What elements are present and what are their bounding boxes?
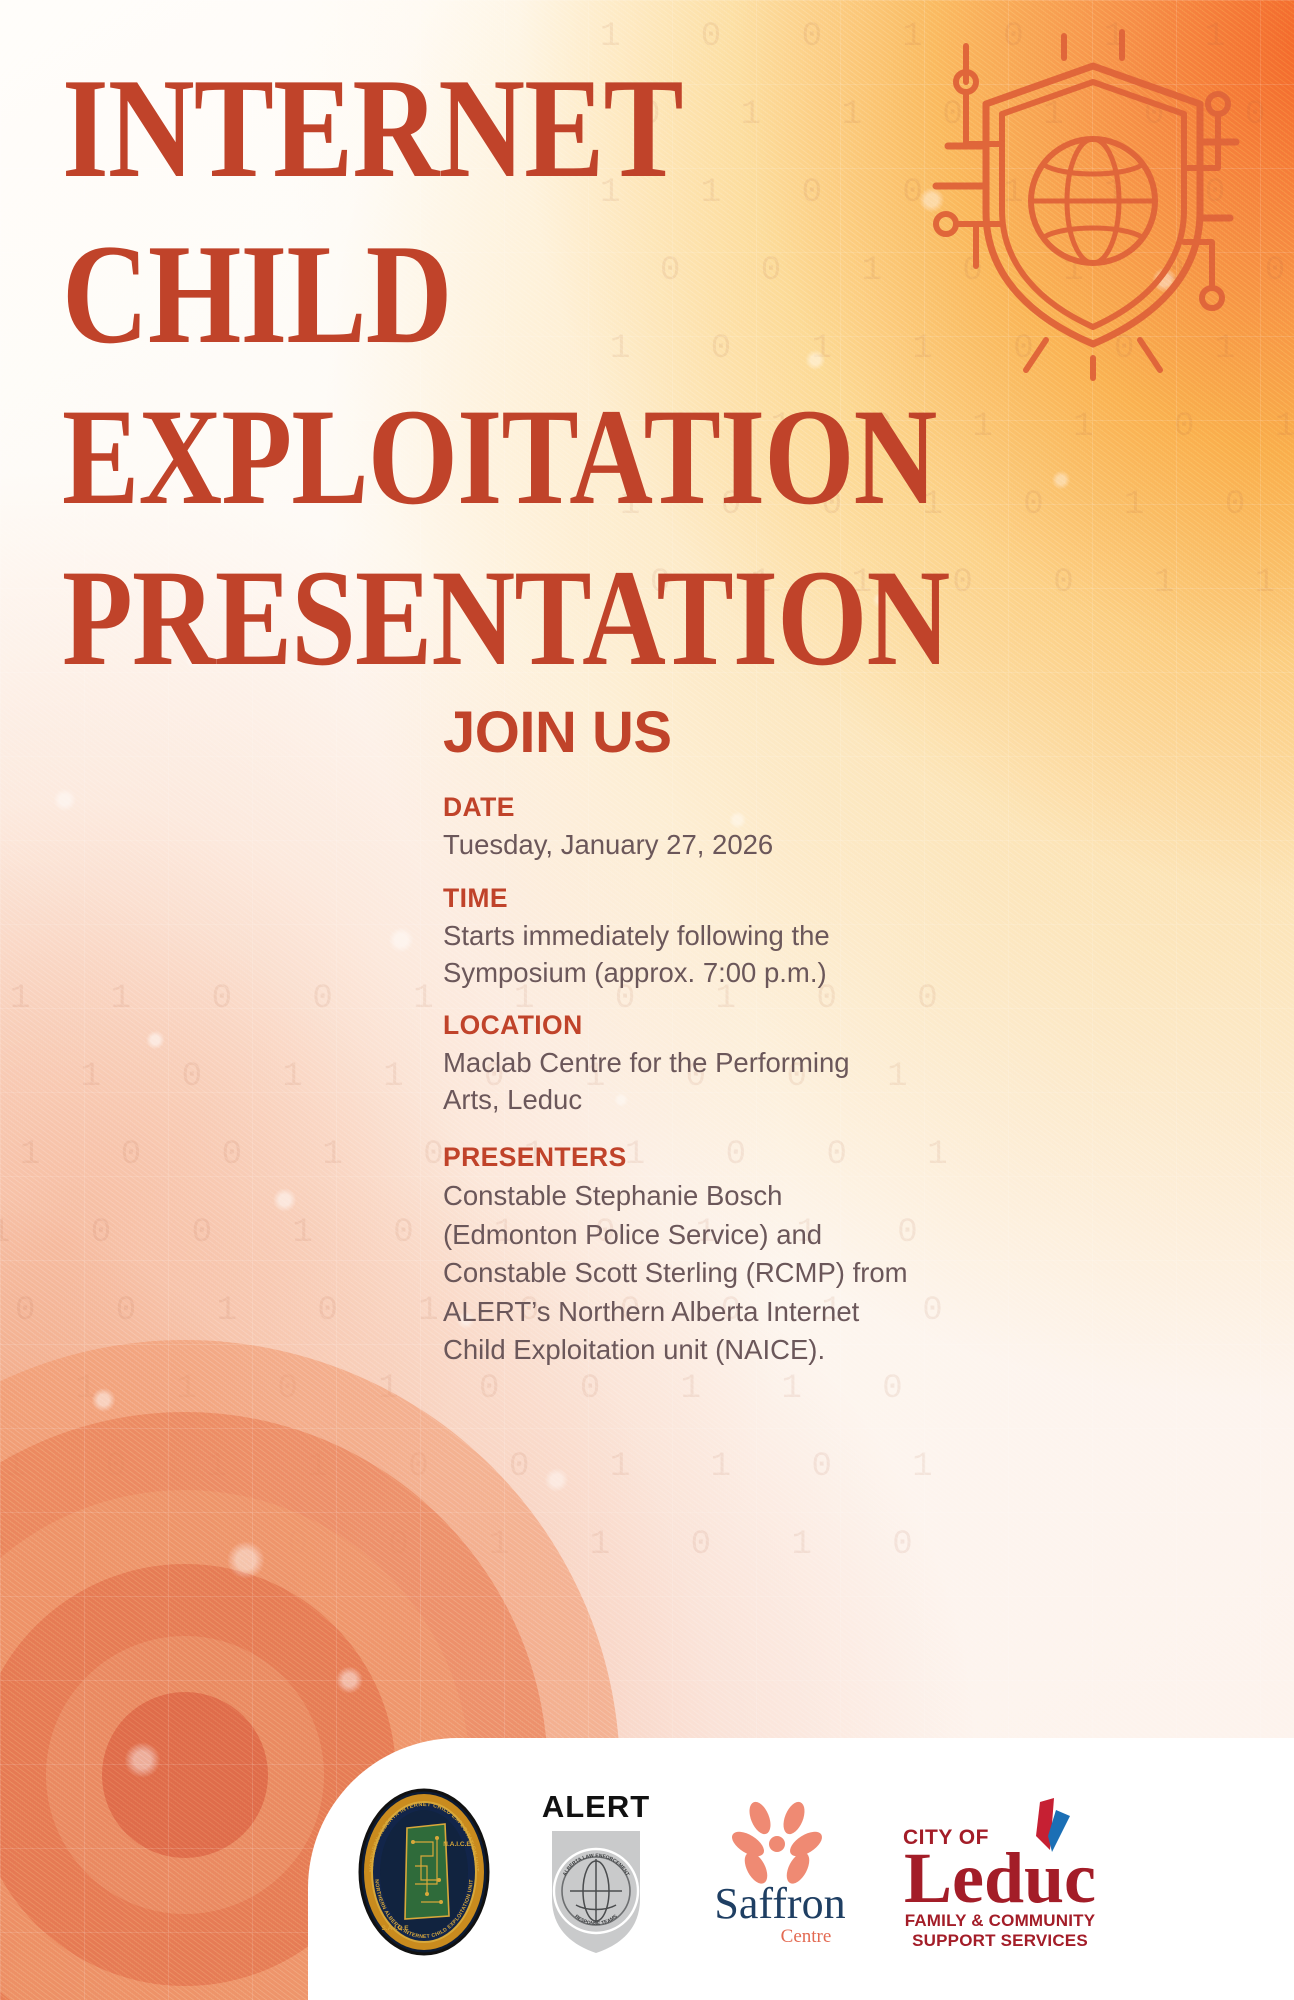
leduc-fcss-line2: SUPPORT SERVICES [912, 1931, 1088, 1950]
title-line-1: INTERNET [62, 58, 768, 200]
alert-wordmark: ALERT [542, 1789, 650, 1824]
naice-inner-top-text: N.A.I.C.E [443, 1841, 471, 1848]
detail-label-date: DATE [443, 792, 1003, 822]
saffron-flower-icon [728, 1799, 826, 1887]
shield-globe-circuit-icon [918, 26, 1248, 386]
partner-logos-footer: NORTHERN ALBERTA INTERNET CHILD EXPLOITA… [308, 1738, 1294, 2000]
detail-label-time: TIME [443, 883, 1003, 913]
join-us-heading: JOIN US [443, 704, 1003, 762]
page-title: INTERNET CHILD EXPLOITATION PRESENTATION [62, 58, 902, 710]
saffron-wordmark: Saffron [714, 1879, 845, 1928]
detail-value-time: Starts immediately following the Symposi… [443, 918, 1003, 991]
event-details: JOIN US DATE Tuesday, January 27, 2026 T… [443, 704, 1003, 1389]
alert-logo: ALERT ALBERTA LAW ENFORCEMENT [512, 1787, 680, 1957]
saffron-centre-logo: Saffron Centre [680, 1792, 880, 1952]
title-line-3: EXPLOITATION [62, 389, 768, 526]
city-of-leduc-fcss-logo: CITY OF Leduc FAMILY & COMMUNITY SUPPORT… [880, 1792, 1120, 1952]
detail-field-date: DATE Tuesday, January 27, 2026 [443, 792, 1003, 864]
saffron-subtitle: Centre [781, 1926, 832, 1947]
title-line-2: CHILD [62, 224, 768, 366]
leduc-wordmark: Leduc [904, 1838, 1096, 1918]
detail-field-presenters: PRESENTERS Constable Stephanie Bosch (Ed… [443, 1142, 1003, 1370]
naice-crest-logo: NORTHERN ALBERTA INTERNET CHILD EXPLOITA… [336, 1784, 512, 1960]
detail-field-location: LOCATION Maclab Centre for the Performin… [443, 1010, 1003, 1118]
detail-label-presenters: PRESENTERS [443, 1142, 1003, 1172]
detail-value-location: Maclab Centre for the Performing Arts, L… [443, 1045, 1003, 1118]
title-line-4: PRESENTATION [62, 550, 768, 687]
detail-value-date: Tuesday, January 27, 2026 [443, 827, 1003, 863]
detail-label-location: LOCATION [443, 1010, 1003, 1040]
poster-canvas: 1 0 0 1 0 1 1 0 0 1 0 1 1 0 1 0 0 1 1 0 … [0, 0, 1294, 2000]
detail-field-time: TIME Starts immediately following the Sy… [443, 883, 1003, 991]
naice-inner-bottom-text: S.A.I.C.E [381, 1925, 409, 1932]
detail-value-presenters: Constable Stephanie Bosch (Edmonton Poli… [443, 1177, 1003, 1370]
leduc-fcss-line1: FAMILY & COMMUNITY [905, 1911, 1096, 1930]
